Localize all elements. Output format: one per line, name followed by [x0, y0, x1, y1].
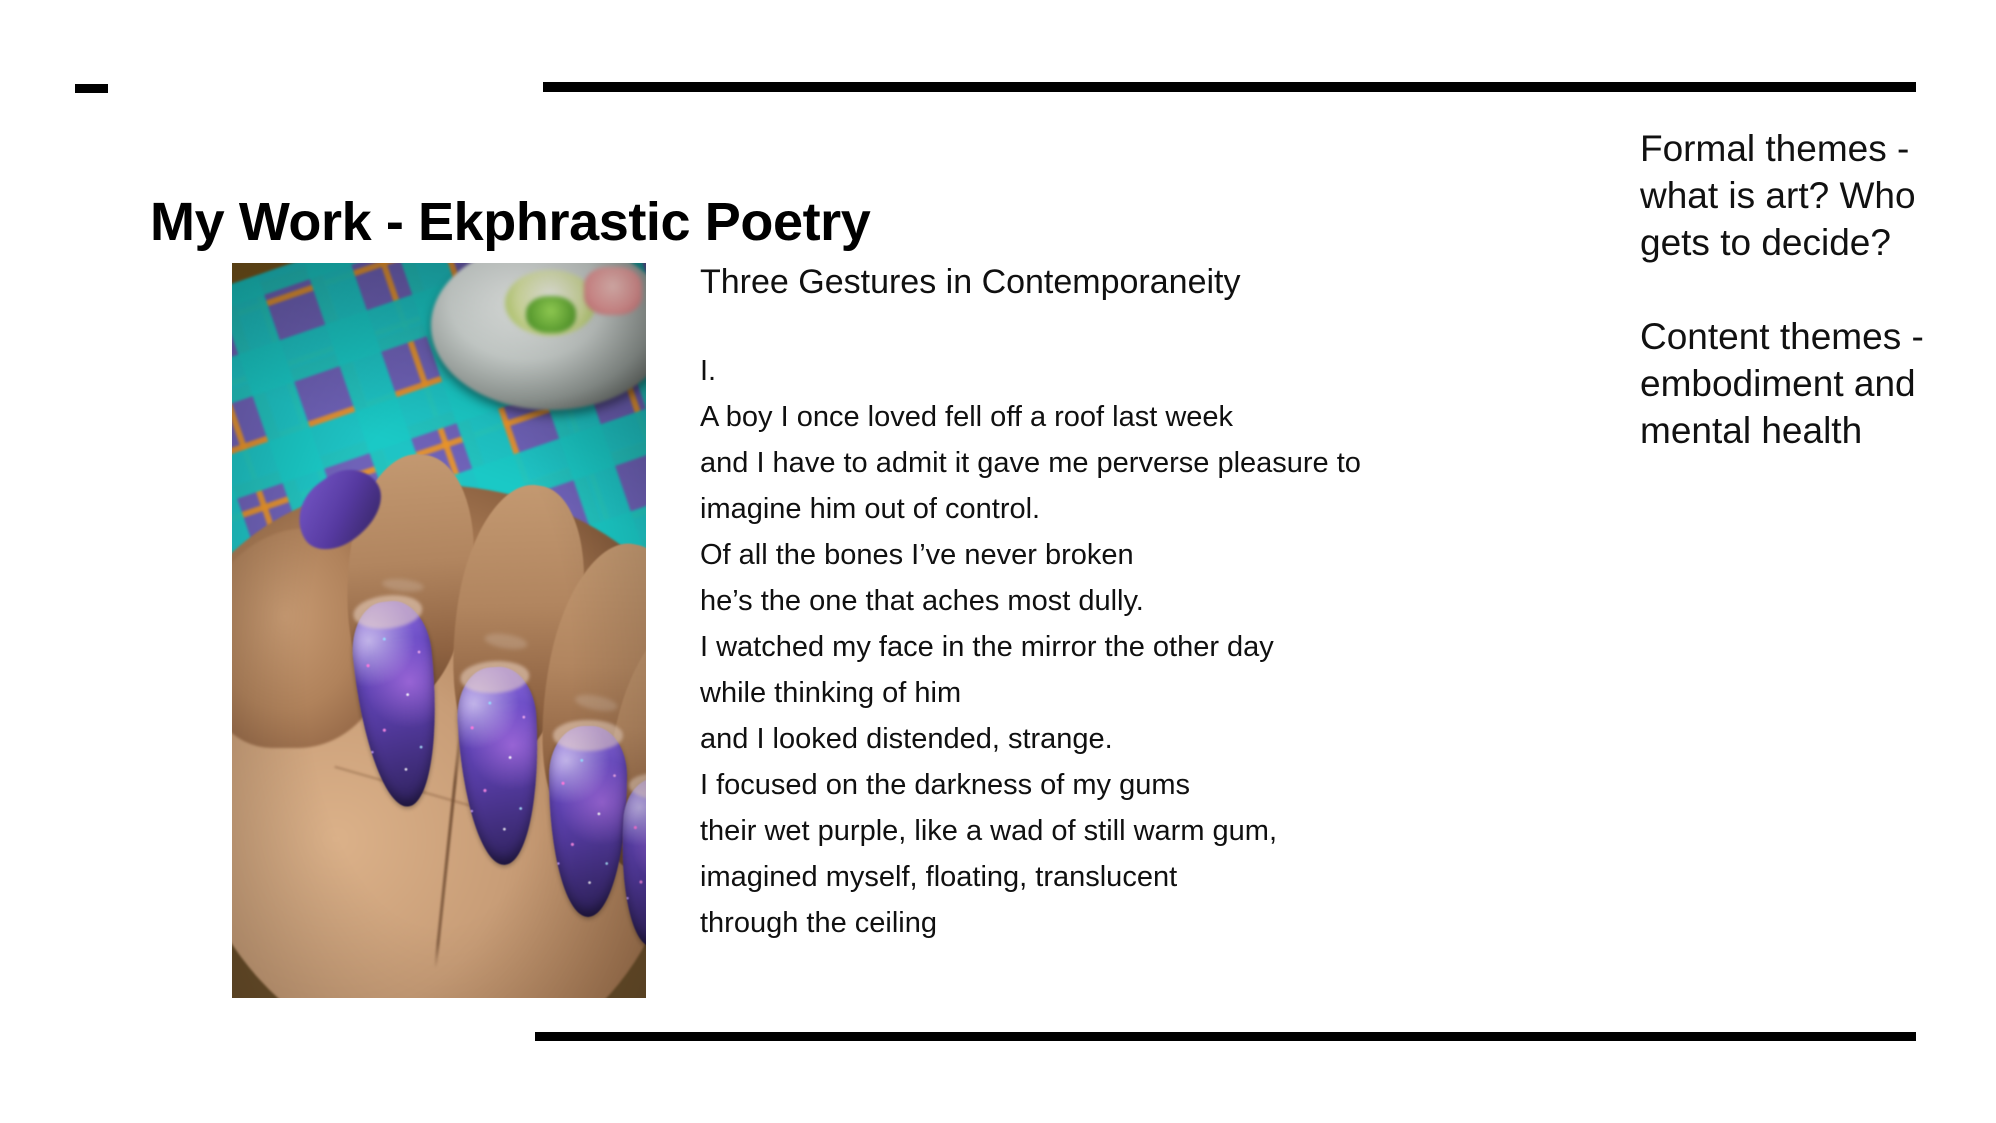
note-spacer [1640, 266, 1950, 313]
photo-food-item-2 [584, 267, 642, 315]
poem-line: while thinking of him [700, 670, 1590, 716]
poem-line: and I have to admit it gave me perverse … [700, 440, 1590, 486]
poem-line: he’s the one that aches most dully. [700, 578, 1590, 624]
poem-line: imagine him out of control. [700, 486, 1590, 532]
horizontal-rule-bottom [535, 1032, 1916, 1041]
note-formal-themes: Formal themes - what is art? Who gets to… [1640, 125, 1950, 266]
photo-nail-cuticle [553, 720, 622, 751]
poem-block: Three Gestures in Contemporaneity I. A b… [700, 260, 1590, 946]
photo-knuckle [381, 577, 424, 593]
slide: My Work - Ekphrastic Poetry [0, 0, 1996, 1123]
poem-line: I. [700, 348, 1590, 394]
themes-notes-column: Formal themes - what is art? Who gets to… [1640, 125, 1950, 454]
photo-knuckle [574, 693, 618, 715]
poem-line: I focused on the darkness of my gums [700, 762, 1590, 808]
poem-line: through the ceiling [700, 900, 1590, 946]
photo-knuckle [484, 631, 528, 651]
poem-line: A boy I once loved fell off a roof last … [700, 394, 1590, 440]
photo-content [232, 263, 646, 998]
note-content-themes: Content themes - embodiment and mental h… [1640, 313, 1950, 454]
photo-food-item-3 [526, 296, 576, 333]
poem-line: Of all the bones I’ve never broken [700, 532, 1590, 578]
poem-line: I watched my face in the mirror the othe… [700, 624, 1590, 670]
poem-body: I. A boy I once loved fell off a roof la… [700, 348, 1590, 946]
photo-hand-with-purple-nails [232, 263, 646, 998]
page-title: My Work - Ekphrastic Poetry [150, 193, 870, 252]
poem-line: and I looked distended, strange. [700, 716, 1590, 762]
poem-line: imagined myself, floating, translucent [700, 854, 1590, 900]
dash-mark [75, 84, 108, 93]
poem-line: their wet purple, like a wad of still wa… [700, 808, 1590, 854]
horizontal-rule-top [543, 82, 1916, 92]
poem-title: Three Gestures in Contemporaneity [700, 260, 1590, 304]
